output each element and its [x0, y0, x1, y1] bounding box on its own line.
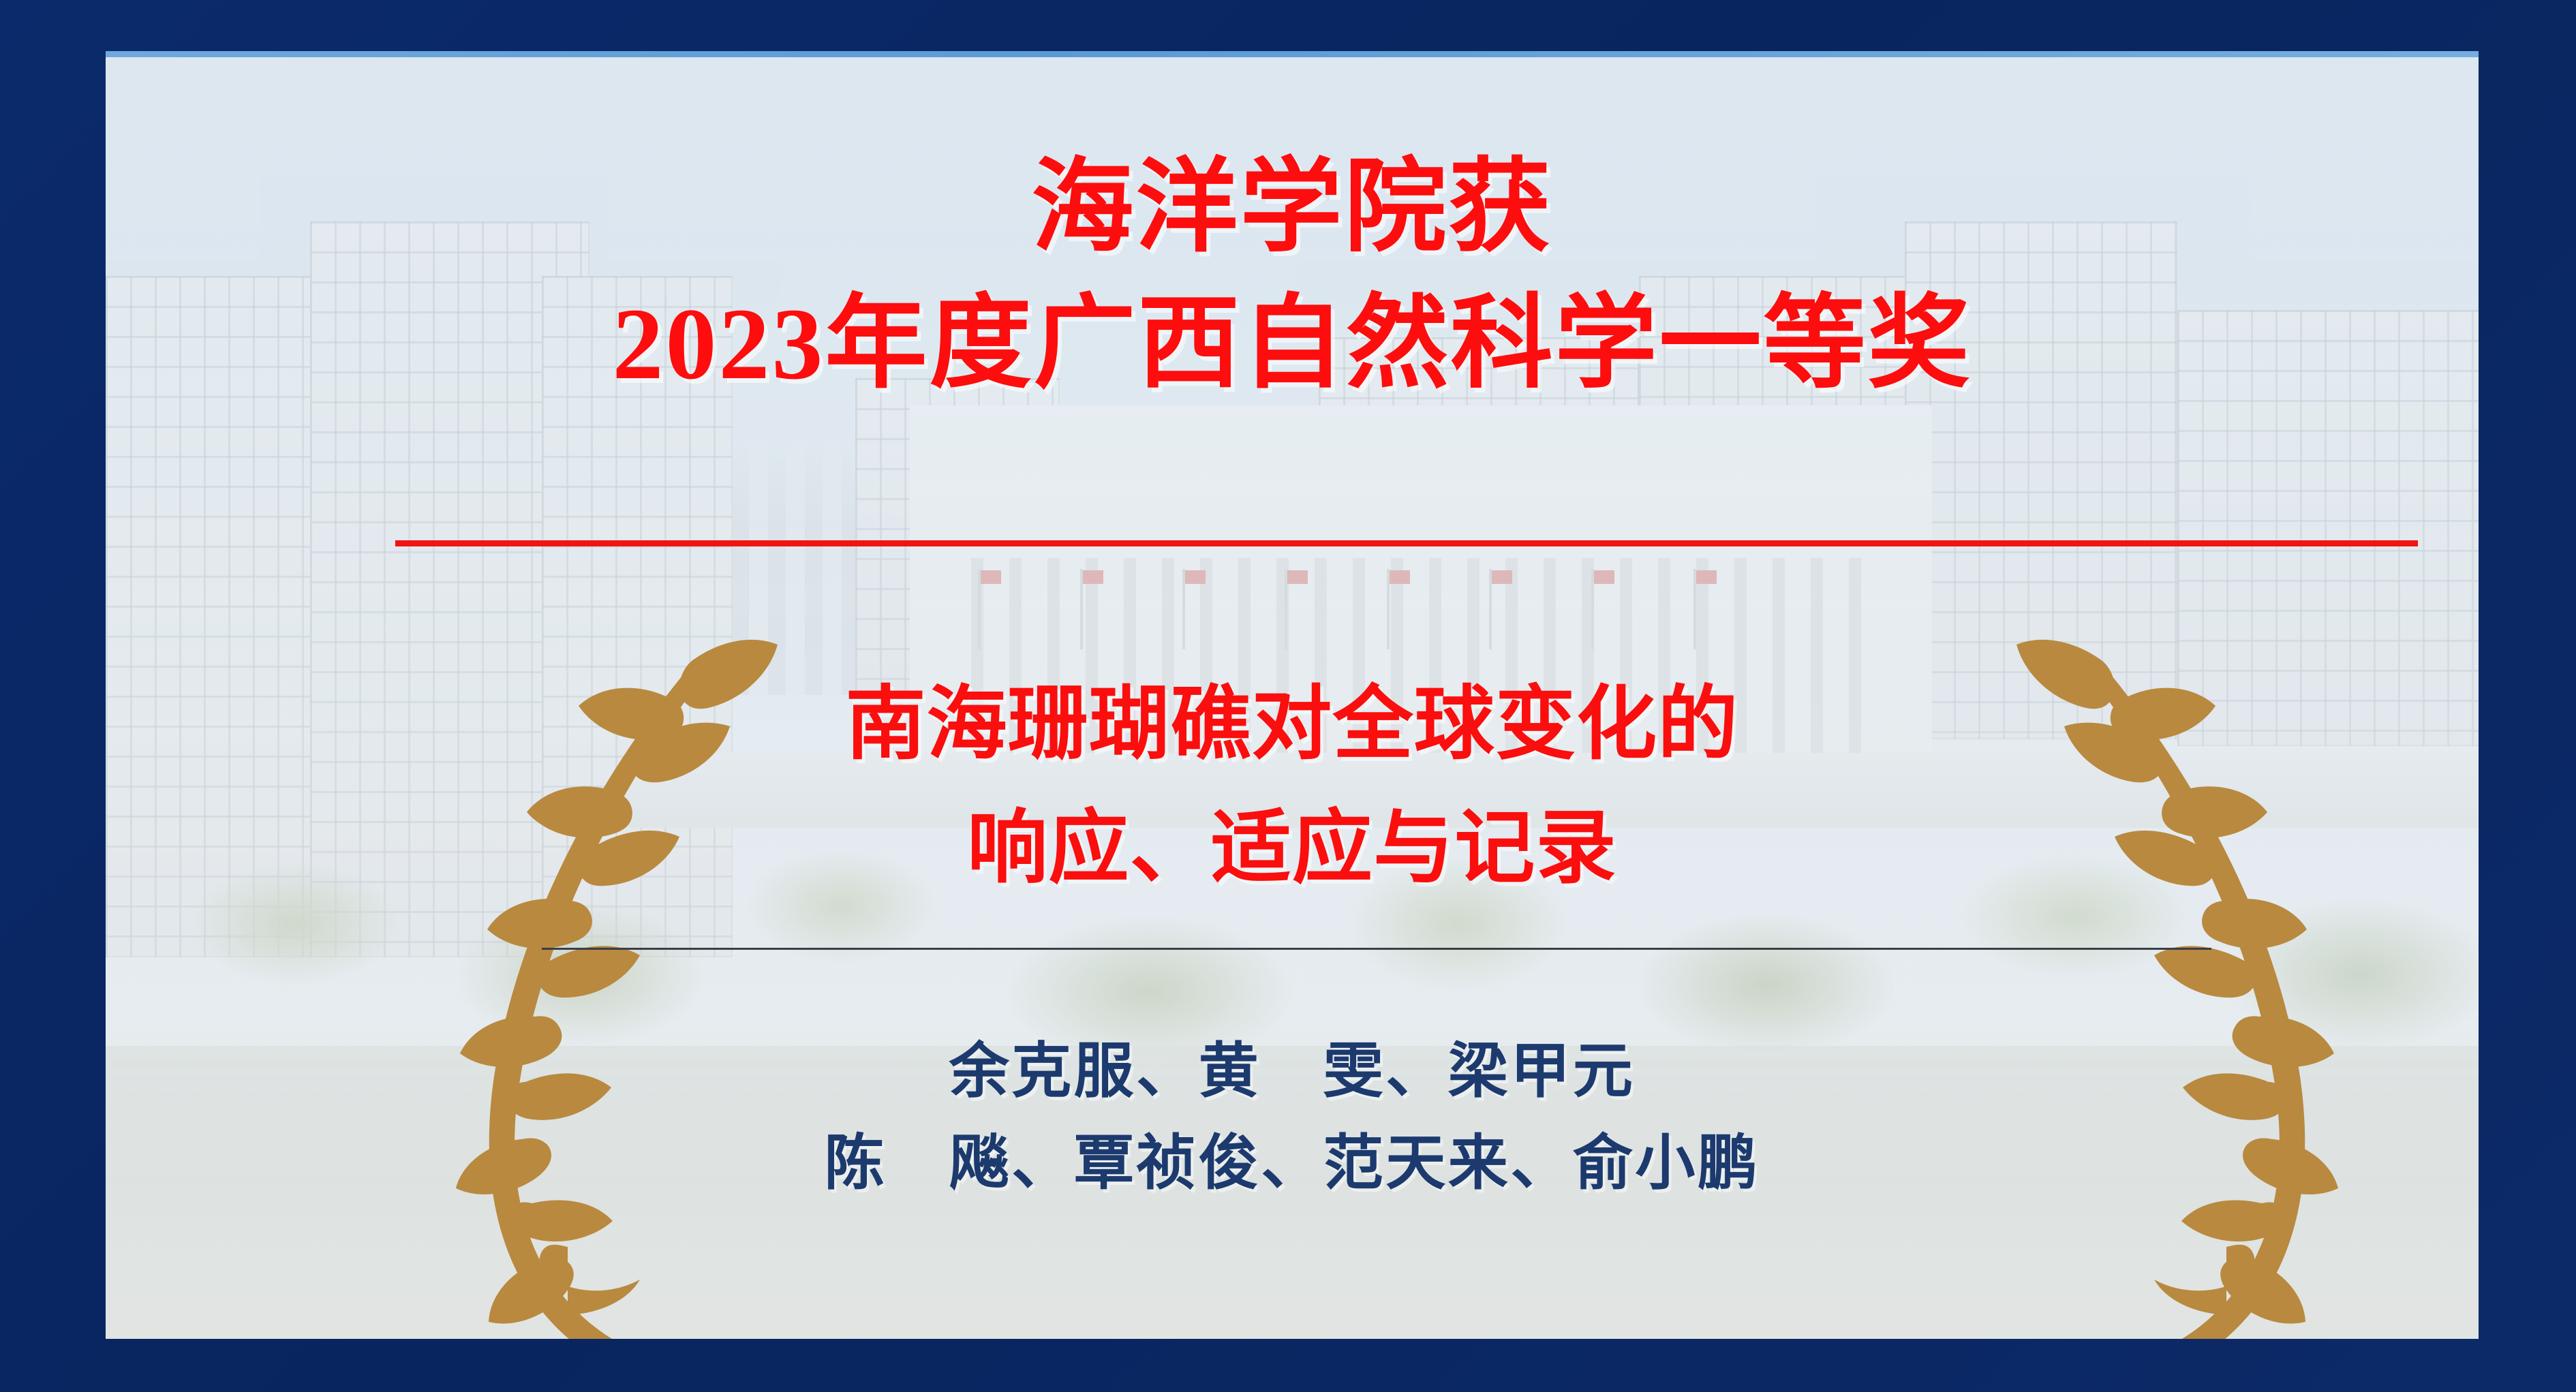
award-title-line-2: 2023年度广西自然科学一等奖: [106, 293, 2479, 395]
presentation-slide: 海洋学院获 2023年度广西自然科学一等奖 南海珊瑚礁对全球变化的 响应、适应与…: [0, 0, 2576, 1392]
slide-inner-panel: 海洋学院获 2023年度广西自然科学一等奖 南海珊瑚礁对全球变化的 响应、适应与…: [106, 51, 2479, 1339]
title-divider-rule: [395, 540, 2418, 546]
author-list-line-2: 陈 飚、覃祯俊、范天来、俞小鹏: [106, 1134, 2479, 1194]
author-divider-rule: [542, 948, 2211, 950]
award-title-line-1: 海洋学院获: [106, 157, 2479, 259]
author-list-line-1: 余克服、黄 雯、梁甲元: [106, 1042, 2479, 1102]
project-subtitle-line-1: 南海珊瑚礁对全球变化的: [106, 685, 2479, 765]
project-subtitle-line-2: 响应、适应与记录: [106, 809, 2479, 889]
slide-content: 海洋学院获 2023年度广西自然科学一等奖 南海珊瑚礁对全球变化的 响应、适应与…: [106, 51, 2479, 1339]
panel-top-accent-bar: [106, 51, 2479, 57]
